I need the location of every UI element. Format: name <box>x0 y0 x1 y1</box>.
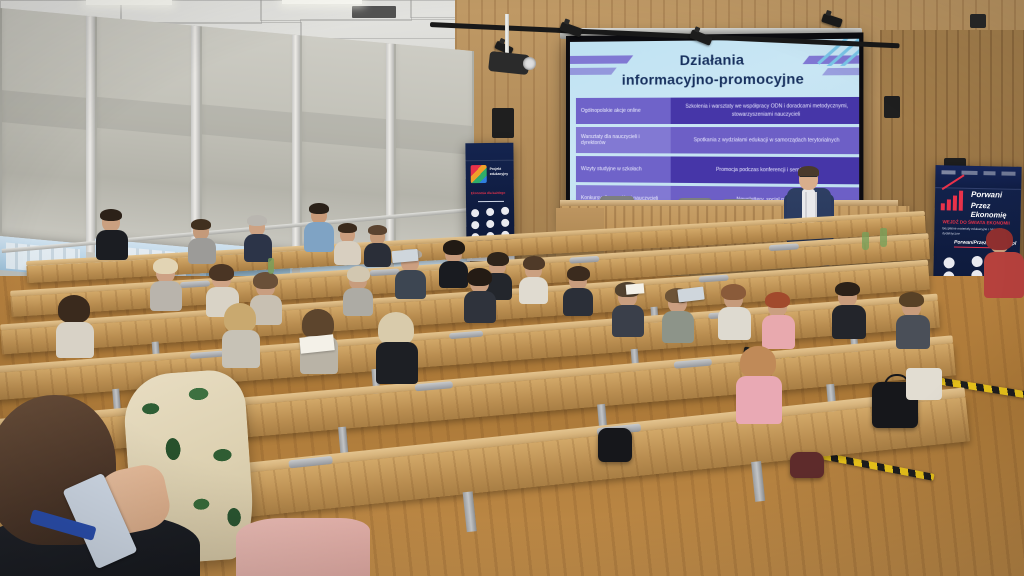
chart-logo-icon <box>941 190 967 211</box>
slide-row-left: Ogólnopolskie akcje online <box>576 98 671 124</box>
ceiling-light <box>86 0 172 5</box>
ceiling-vent <box>352 6 396 18</box>
roller-blind[interactable] <box>0 8 90 244</box>
window-mullion <box>386 43 394 262</box>
ceiling-light <box>282 0 362 4</box>
slide-title: Działania informacyjno-promocyjne <box>570 49 859 90</box>
slide-row-right: Szkolenia i warsztaty we współpracy ODN … <box>671 97 859 124</box>
slide-table-row: Ogólnopolskie akcje online Szkolenia i w… <box>576 97 859 124</box>
banner-headline-1: Porwani <box>971 190 1002 200</box>
wall-speaker <box>884 96 900 118</box>
backpack <box>598 428 632 462</box>
roller-blind[interactable] <box>394 44 474 259</box>
handbag <box>790 452 824 478</box>
slide-row-right: Spotkania z wydziałami edukacji w samorz… <box>671 127 859 154</box>
glasses-icon <box>800 176 817 181</box>
lecture-hall-photo: Działania informacyjno-promocyjne Ogólno… <box>0 0 1024 576</box>
slide-table-row: Warsztaty dla nauczycieli i dyrektorów S… <box>576 127 859 154</box>
slide-title-line2: informacyjno-promocyjne <box>570 69 859 90</box>
wall-speaker <box>492 108 514 138</box>
banner-subhead: Ekonomia dla każdego <box>471 191 511 195</box>
water-bottle <box>880 228 887 247</box>
slide-row-left: Warsztaty dla nauczycieli i dyrektorów <box>576 127 671 153</box>
laptop <box>392 249 419 263</box>
projector-lens-icon <box>523 57 536 70</box>
projector-mount-pole <box>505 14 509 58</box>
foreground-attendee-lap <box>236 518 370 576</box>
colorful-logo-icon <box>471 165 487 183</box>
banner-logo-strip <box>465 143 513 161</box>
water-bottle <box>862 232 869 250</box>
slide-title-line1: Działania <box>570 49 859 71</box>
papers <box>626 283 645 295</box>
window-mullion <box>86 16 95 253</box>
slide-row-left: Wizyty studyjne w szkołach <box>576 156 671 183</box>
banner-headline: Projekt edukacyjny <box>490 167 512 176</box>
water-bottle <box>268 258 274 274</box>
presenter-lanyard <box>805 192 817 218</box>
banner-headline-2: Przez Ekonomię <box>971 201 1021 220</box>
ceiling-camera <box>970 14 986 28</box>
tote-bag <box>906 368 942 400</box>
banner-subhead: WEJDŹ DO ŚWIATA EKONOMII <box>942 219 1009 225</box>
